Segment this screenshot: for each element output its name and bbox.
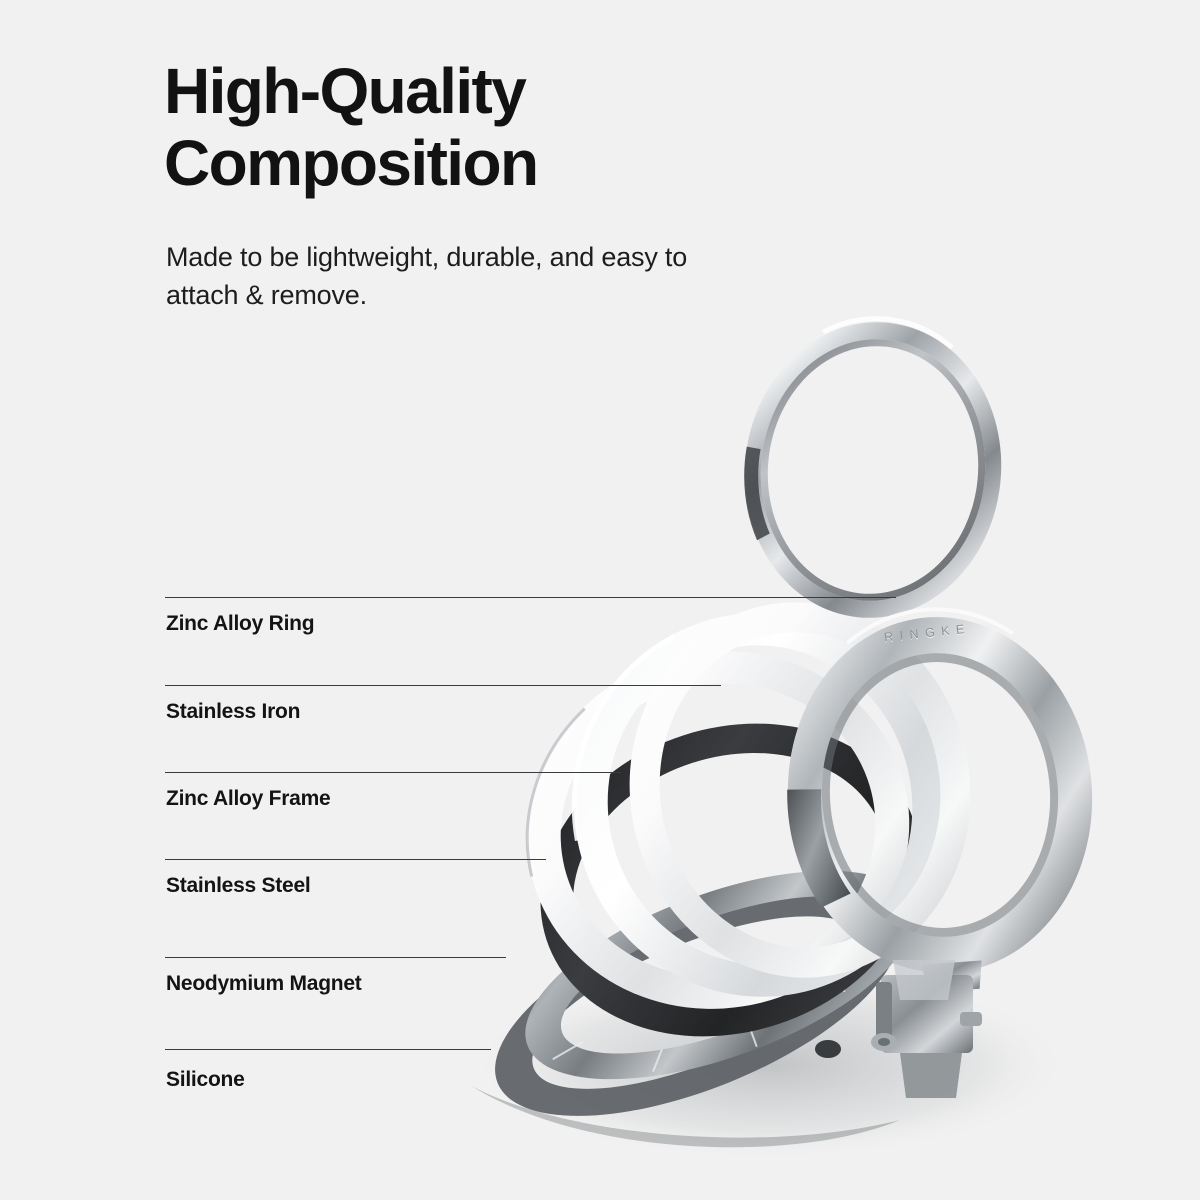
layer-stainless-steel (499, 676, 960, 1084)
pin-hole (815, 1040, 841, 1058)
callout-label: Zinc Alloy Frame (166, 787, 330, 811)
ambient-shadow (470, 970, 1070, 1160)
hinge-assembly (871, 960, 982, 1098)
layer-silicone (465, 842, 928, 1163)
callout-label: Stainless Steel (166, 874, 311, 898)
page-subtitle: Made to be lightweight, durable, and eas… (166, 238, 856, 315)
layer-inner-shell (605, 580, 994, 1000)
layer-zinc-alloy-ring (730, 306, 1016, 631)
callout-label: Neodymium Magnet (166, 972, 362, 996)
callout-label: Stainless Iron (166, 700, 300, 724)
layer-ringke-frame (775, 599, 1106, 1001)
leader-line (165, 685, 721, 686)
infographic-page: RINGKE High-Quality Composition Made to … (0, 0, 1200, 1200)
leader-line (165, 859, 546, 860)
leader-line (165, 772, 621, 773)
leader-line (165, 597, 896, 598)
layer-zinc-alloy-frame (489, 611, 948, 1049)
callout-label: Silicone (166, 1068, 245, 1092)
cast-shadow (470, 1085, 900, 1147)
callout-label: Zinc Alloy Ring (166, 612, 314, 636)
layer-neodymium-magnet (499, 828, 940, 1122)
leader-line (165, 1049, 491, 1050)
leader-line (165, 957, 506, 958)
layer-stainless-iron (541, 581, 979, 1029)
page-title: High-Quality Composition (164, 56, 784, 199)
brand-engraving: RINGKE (884, 621, 972, 644)
